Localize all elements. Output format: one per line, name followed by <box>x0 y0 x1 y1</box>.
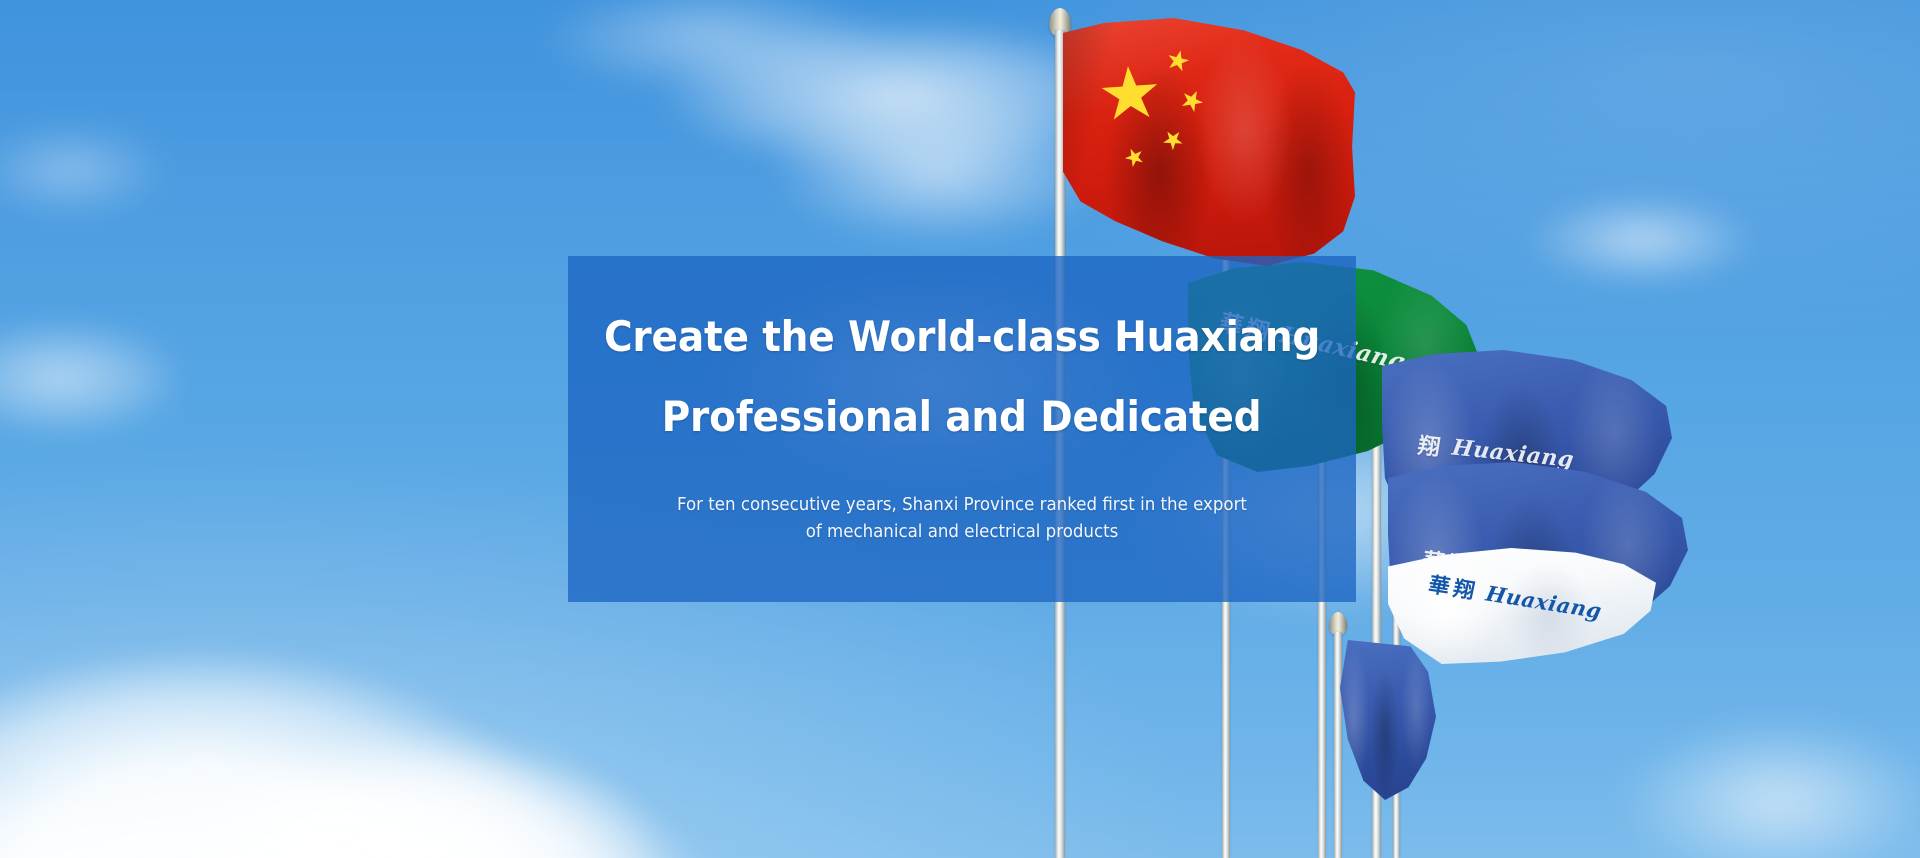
flag-huaxiang-white-cloth <box>1388 548 1656 664</box>
hero-text-overlay: Create the World-class Huaxiang Professi… <box>568 256 1356 602</box>
hero-banner: 華翔 Huaxiang 翔 Huaxiang 華翔 Huaxiang 華翔 Hu… <box>0 0 1920 858</box>
flag-huaxiang-white: 華翔 Huaxiang <box>1388 548 1656 664</box>
flag-huaxiang-blue-small <box>1338 640 1436 800</box>
hero-headline-line1: Create the World-class Huaxiang <box>604 310 1320 364</box>
flag-china-cloth <box>1063 18 1355 266</box>
flag-huaxiang-blue-small-cloth <box>1338 640 1436 800</box>
flag-china <box>1063 18 1355 266</box>
hero-headline-line2: Professional and Dedicated <box>662 390 1262 444</box>
hero-subtitle: For ten consecutive years, Shanxi Provin… <box>668 492 1257 546</box>
